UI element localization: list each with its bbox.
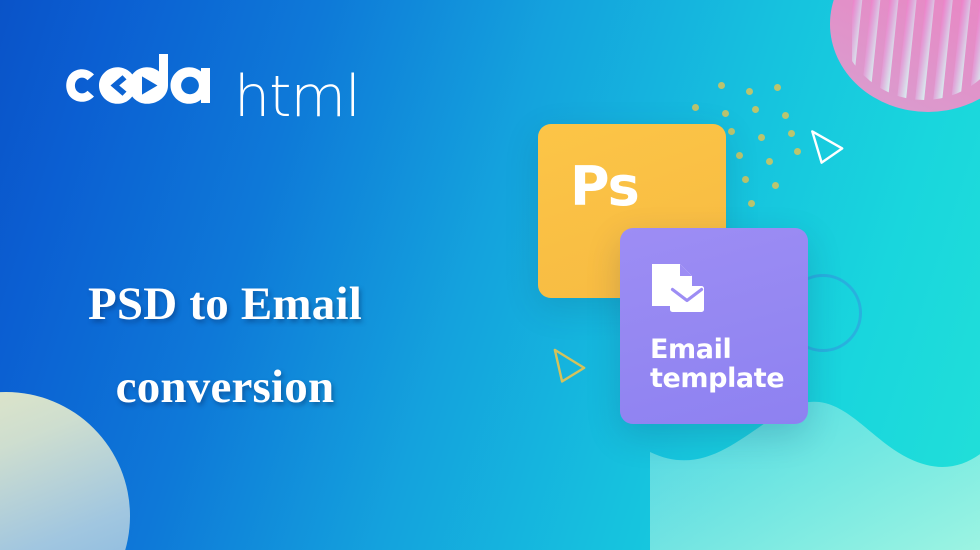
blob-top-right-shape (830, 0, 980, 112)
page-title: PSD to Email conversion (0, 263, 450, 428)
promo-banner: html PSD to Email conversion Ps Email te… (0, 0, 980, 550)
triangle-outline-gold-icon (546, 344, 590, 388)
email-template-card[interactable]: Email template (620, 228, 808, 424)
email-card-line-2: template (650, 365, 784, 394)
photoshop-card-label: Ps (570, 160, 639, 214)
brand-logo[interactable]: html (64, 54, 360, 126)
document-envelope-icon (650, 262, 706, 316)
headline-line-2: conversion (0, 346, 450, 429)
triangle-outline-white-icon (806, 126, 848, 168)
email-card-line-1: Email (650, 336, 784, 365)
striped-circle-shape (852, 0, 980, 110)
headline-line-1: PSD to Email (0, 263, 450, 346)
logo-html-text: html (234, 69, 360, 126)
logo-coda-mark (64, 54, 232, 116)
email-template-card-label: Email template (650, 336, 784, 394)
